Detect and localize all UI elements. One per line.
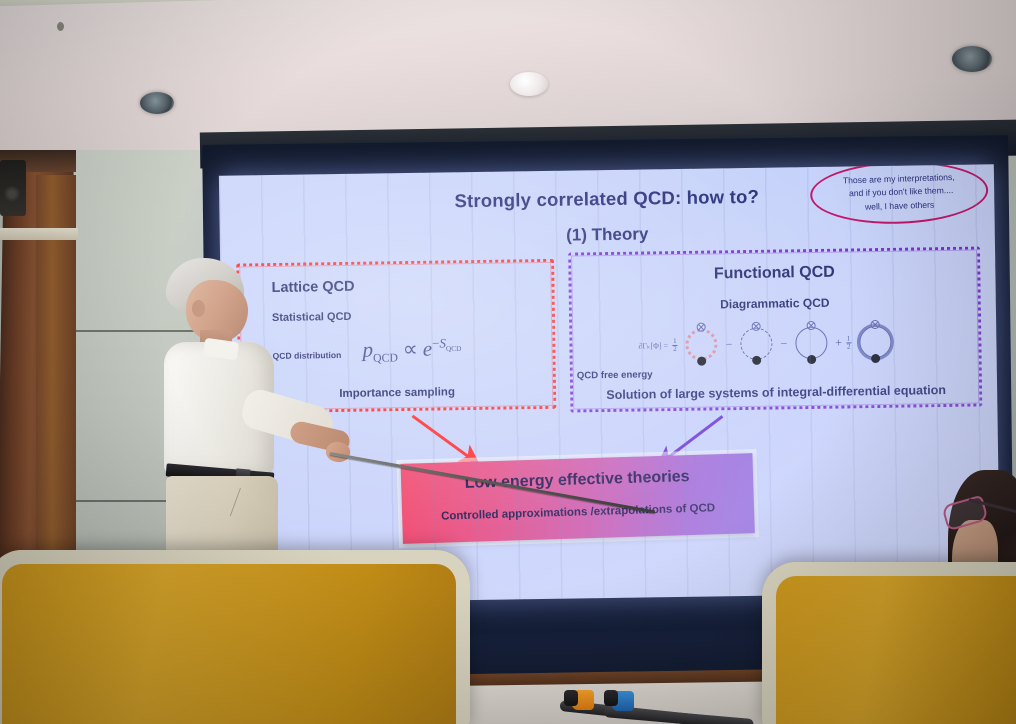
formula-exponent: −SQCD — [432, 335, 461, 350]
slide-subtitle: (1) Theory — [220, 219, 995, 250]
red-arrow — [412, 415, 473, 461]
formula-exp-sub: QCD — [446, 345, 461, 353]
formula-operator: ∝ — [398, 337, 423, 361]
seat-left-trim — [0, 550, 470, 724]
formula-e: e — [423, 337, 433, 361]
formula-p-sub: QCD — [373, 351, 398, 364]
diagrammatic-qcd-label: Diagrammatic QCD — [572, 294, 978, 314]
functional-qcd-box: Functional QCD Diagrammatic QCD ∂Γₖ[Φ] =… — [568, 246, 982, 412]
low-energy-title: Low energy effective theories — [401, 466, 753, 495]
vertex-dot — [807, 355, 816, 364]
diagram-operator-minus-2: − — [780, 336, 787, 351]
presenter — [130, 258, 360, 588]
regulator-insertion-icon — [752, 322, 761, 331]
qcd-distribution-formula: pQCD∝e−SQCD — [362, 335, 461, 365]
vertex-dot — [871, 354, 880, 363]
smoke-detector — [510, 72, 548, 96]
low-energy-subtitle: Controlled approximations /extrapolation… — [402, 501, 754, 524]
diagram-operator-plus: + — [835, 335, 842, 350]
loop-diagram-double — [855, 322, 896, 363]
loop-diagram-dashed — [736, 324, 777, 365]
loop-diagram-wavy — [681, 324, 722, 365]
interpretation-note-bubble: Those are my interpretations, and if you… — [809, 164, 989, 226]
coefficient-half-1: 12 — [672, 337, 678, 352]
diagram-operator-minus-1: − — [725, 337, 732, 352]
presenter-ear — [192, 300, 205, 317]
auditorium-seat-right — [762, 562, 1016, 724]
formula-p: p — [362, 338, 373, 362]
loop-diagram-solid — [791, 323, 832, 364]
microphone-2-cap — [604, 690, 618, 706]
auditorium-seat-left — [0, 550, 470, 724]
regulator-insertion-icon — [871, 320, 880, 329]
solution-footer-label: Solution of large systems of integral-di… — [573, 383, 979, 403]
regulator-insertion-icon — [697, 323, 706, 332]
ceiling-downlight-2 — [952, 46, 992, 72]
ceiling-screw — [57, 22, 64, 31]
presentation-photo-scene: Strongly correlated QCD: how to? (1) The… — [0, 0, 1016, 724]
note-line-3: well, I have others — [865, 198, 935, 214]
speaker-cone-icon — [4, 186, 20, 202]
wood-trim — [0, 228, 78, 240]
qcd-free-energy-label: QCD free energy — [577, 369, 653, 381]
vertex-dot — [697, 357, 706, 366]
coefficient-half-2: 12 — [846, 335, 852, 350]
functional-heading: Functional QCD — [571, 262, 977, 286]
flow-equation-diagram: ∂Γₖ[Φ] = 12 − − — [638, 312, 979, 375]
seat-right-trim — [762, 562, 1016, 724]
flow-equation-label: ∂Γₖ[Φ] = — [638, 341, 668, 350]
microphone-1-cap — [564, 690, 578, 706]
ceiling-downlight-1 — [140, 92, 174, 114]
regulator-insertion-icon — [806, 321, 815, 330]
vertex-dot — [752, 356, 761, 365]
